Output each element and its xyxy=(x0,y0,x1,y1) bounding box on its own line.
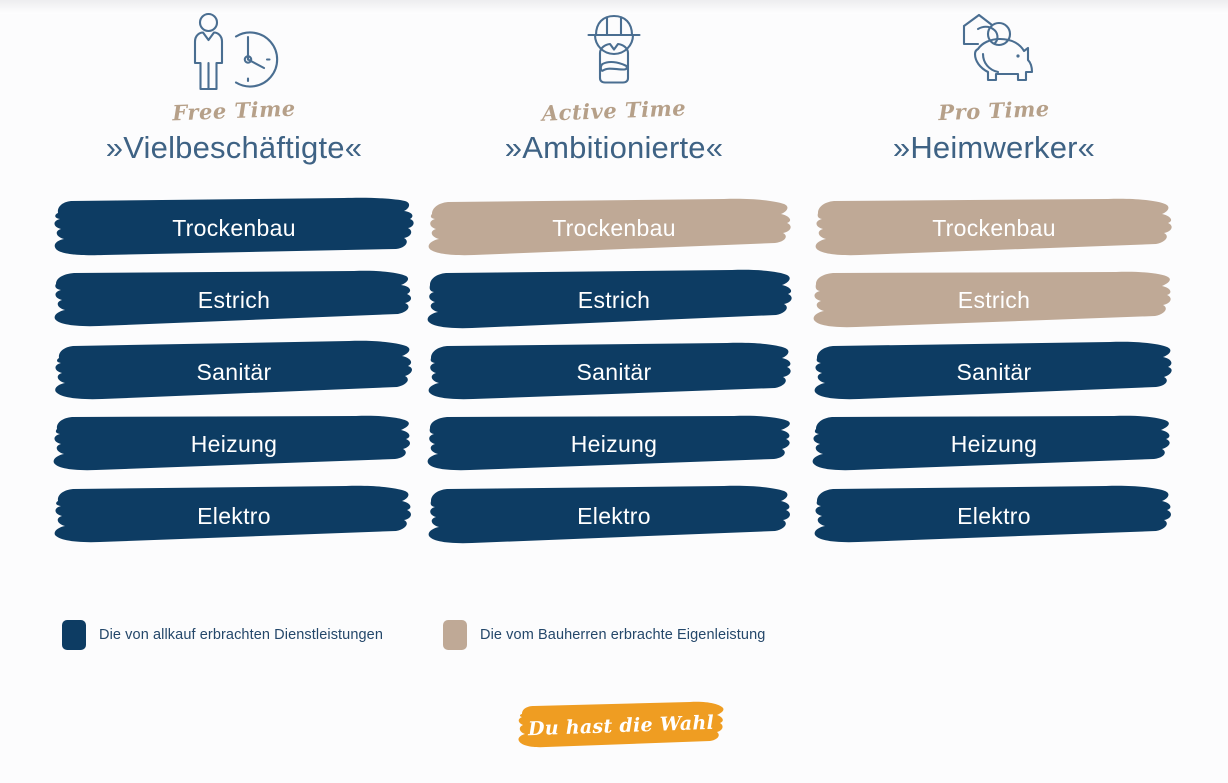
legend-label: Die von allkauf erbrachten Dienstleistun… xyxy=(99,627,383,643)
service-bar[interactable]: Heizung xyxy=(44,408,424,480)
service-bar-list: Trockenbau Estrich Sanitär xyxy=(804,192,1184,552)
column-title: »Ambitionierte« xyxy=(424,128,804,168)
service-bar[interactable]: Heizung xyxy=(424,408,804,480)
service-bar[interactable]: Elektro xyxy=(44,480,424,552)
column-title: »Heimwerker« xyxy=(804,128,1184,168)
legend-label: Die vom Bauherren erbrachte Eigenleistun… xyxy=(480,627,765,643)
brush-stroke-shape xyxy=(424,336,804,408)
legend-item-allkauf: Die von allkauf erbrachten Dienstleistun… xyxy=(62,618,383,652)
brush-stroke-shape xyxy=(804,192,1184,264)
brush-stroke-shape xyxy=(424,408,804,480)
service-bar[interactable]: Estrich xyxy=(424,264,804,336)
service-bar-list: Trockenbau Estrich Sanitär xyxy=(44,192,424,552)
brush-stroke-shape xyxy=(804,408,1184,480)
service-bar[interactable]: Elektro xyxy=(424,480,804,552)
brush-stroke-shape xyxy=(804,480,1184,552)
service-bar[interactable]: Estrich xyxy=(804,264,1184,336)
brush-stroke-shape xyxy=(44,192,424,264)
brush-stroke-shape xyxy=(44,408,424,480)
brush-stroke-shape xyxy=(804,264,1184,336)
piggy-bank-icon xyxy=(804,0,1184,96)
service-bar[interactable]: Trockenbau xyxy=(44,192,424,264)
brush-stroke-shape xyxy=(44,336,424,408)
brush-stroke-shape xyxy=(44,480,424,552)
legend: Die von allkauf erbrachten Dienstleistun… xyxy=(62,618,1062,658)
brush-stroke-shape xyxy=(424,480,804,552)
package-columns: Free Time »Vielbeschäftigte« Trockenbau … xyxy=(0,0,1228,600)
package-column-heimwerker: Pro Time »Heimwerker« Trockenbau Estrich xyxy=(804,0,1184,552)
service-bar[interactable]: Sanitär xyxy=(804,336,1184,408)
service-bar[interactable]: Heizung xyxy=(804,408,1184,480)
service-bar[interactable]: Elektro xyxy=(804,480,1184,552)
package-column-ambitionierte: Active Time »Ambitionierte« Trockenbau E… xyxy=(424,0,804,552)
brush-stroke-shape xyxy=(424,192,804,264)
person-clock-icon xyxy=(44,0,424,96)
package-column-vielbeschaeftigte: Free Time »Vielbeschäftigte« Trockenbau … xyxy=(44,0,424,552)
legend-item-bauherr: Die vom Bauherren erbrachte Eigenleistun… xyxy=(443,618,765,652)
brush-stroke-shape xyxy=(44,264,424,336)
legend-swatch-beige xyxy=(443,620,467,650)
column-title: »Vielbeschäftigte« xyxy=(44,128,424,168)
infographic-stage: Free Time »Vielbeschäftigte« Trockenbau … xyxy=(0,0,1228,783)
service-bar[interactable]: Sanitär xyxy=(44,336,424,408)
service-bar[interactable]: Sanitär xyxy=(424,336,804,408)
brush-stroke-shape xyxy=(424,264,804,336)
service-bar-list: Trockenbau Estrich Sanitär xyxy=(424,192,804,552)
legend-swatch-navy xyxy=(62,620,86,650)
brush-stroke-shape xyxy=(804,336,1184,408)
service-bar[interactable]: Estrich xyxy=(44,264,424,336)
brush-stroke-shape xyxy=(512,700,730,752)
cta-banner[interactable]: Du hast die Wahl xyxy=(512,700,730,752)
service-bar[interactable]: Trockenbau xyxy=(424,192,804,264)
worker-helmet-icon xyxy=(424,0,804,96)
service-bar[interactable]: Trockenbau xyxy=(804,192,1184,264)
